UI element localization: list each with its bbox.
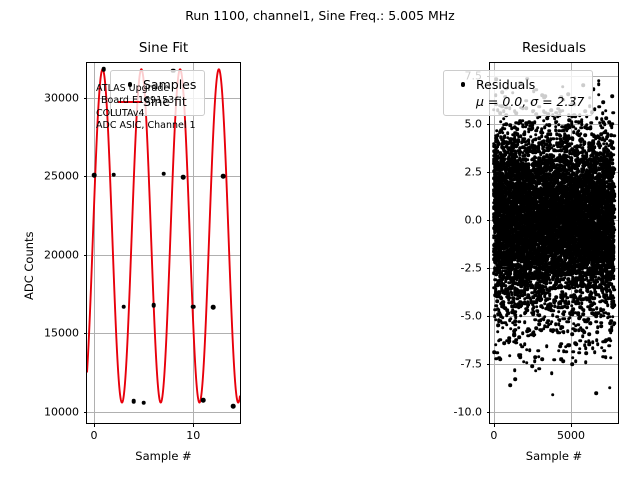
residual-point [548, 124, 552, 128]
residual-point [525, 361, 529, 365]
residual-point [523, 321, 527, 325]
residual-point [562, 313, 566, 317]
residual-point [501, 326, 505, 330]
residual-point [513, 378, 517, 382]
residual-point [509, 317, 513, 321]
sample-point [211, 305, 216, 310]
sample-point [92, 173, 97, 178]
residual-point [512, 334, 516, 338]
residuals-plot-area [490, 63, 618, 423]
sample-point [221, 174, 226, 179]
residual-point [559, 342, 563, 346]
residual-point [501, 316, 505, 320]
residual-point [525, 308, 529, 312]
sample-point [161, 172, 166, 177]
y-tick [84, 412, 88, 413]
residual-point [548, 292, 552, 296]
residual-point [541, 131, 545, 135]
atlas-line-3: COLUTAv4 [96, 108, 196, 120]
residual-point [564, 350, 568, 354]
y-tick-label: 15000 [44, 327, 79, 340]
sample-point [231, 404, 236, 409]
y-tick-label: 30000 [44, 91, 79, 104]
residual-point [565, 305, 569, 309]
x-tick [94, 423, 95, 427]
sine-fit-xlabel: Sample # [87, 449, 240, 463]
y-tick-label: 10000 [44, 405, 79, 418]
sample-point [201, 398, 206, 403]
gridline-horizontal [490, 364, 618, 365]
residual-point [547, 297, 551, 301]
sample-point [151, 303, 156, 308]
residual-point [523, 130, 527, 134]
y-tick [84, 333, 88, 334]
residual-point [506, 132, 510, 136]
residual-point [514, 341, 518, 345]
residual-point [548, 281, 552, 285]
atlas-annotation: ATLAS Upgrade Board E169153 COLUTAv4 ADC… [96, 83, 196, 133]
residual-point [517, 326, 521, 330]
residual-point [557, 349, 561, 353]
x-tick-label: 10 [186, 429, 200, 442]
residual-point [499, 338, 503, 342]
residual-point [523, 343, 527, 347]
residual-point [494, 343, 498, 347]
residuals-title: Residuals [490, 40, 618, 56]
sample-point [191, 304, 196, 309]
sample-point [141, 400, 146, 405]
residual-point [517, 320, 521, 324]
residual-point [513, 310, 517, 314]
residual-point [540, 357, 544, 361]
residual-point [555, 295, 559, 299]
residual-point [538, 313, 542, 317]
residual-point [518, 355, 522, 359]
residual-point [518, 336, 522, 340]
atlas-line-1: ATLAS Upgrade [96, 83, 196, 95]
residual-point [566, 329, 570, 333]
atlas-line-4: ADC ASIC, Channel 1 [96, 120, 196, 132]
sample-point [102, 67, 107, 72]
sample-point [181, 175, 186, 180]
residual-point [537, 349, 541, 353]
residual-point [530, 126, 534, 130]
y-tick [84, 176, 88, 177]
residual-point [552, 309, 556, 313]
x-tick [193, 423, 194, 427]
matplotlib-figure: Run 1100, channel1, Sine Freq.: 5.005 MH… [0, 0, 640, 480]
residual-point [535, 326, 539, 330]
y-tick-label: 25000 [44, 170, 79, 183]
residual-point [538, 322, 542, 326]
residual-point [497, 324, 501, 328]
residual-point [551, 313, 555, 317]
residual-point [507, 339, 511, 343]
residual-point [562, 359, 566, 363]
residual-point [540, 135, 544, 139]
residual-point [514, 315, 518, 319]
residual-point [502, 300, 506, 304]
residual-point [557, 310, 561, 314]
atlas-line-2: Board E169153 [96, 95, 196, 107]
residuals-axes: Residuals Sample # 05000-10.0-7.5-5.0-2.… [489, 62, 619, 424]
gridline-horizontal [490, 412, 618, 413]
y-tick [84, 98, 88, 99]
residual-point [502, 117, 506, 121]
sine-fit-title: Sine Fit [87, 40, 240, 56]
y-tick [84, 255, 88, 256]
residual-point [550, 372, 554, 376]
residual-point [498, 358, 502, 362]
residual-point [552, 358, 556, 362]
residual-point [504, 122, 508, 126]
residual-point [551, 393, 555, 397]
residual-point [527, 328, 531, 332]
residual-point [538, 367, 542, 371]
residual-point [515, 128, 519, 132]
residual-point [513, 369, 517, 373]
residual-point [533, 120, 537, 124]
residual-point [535, 305, 539, 309]
y-tick-label: 20000 [44, 248, 79, 261]
sample-point [112, 172, 117, 177]
residual-point [567, 320, 571, 324]
residual-point [508, 354, 512, 358]
residual-point [533, 333, 537, 337]
residual-point [496, 330, 500, 334]
residual-point [557, 331, 561, 335]
sample-point [131, 399, 136, 404]
residual-point [543, 315, 547, 319]
sine-fit-ylabel: ADC Counts [22, 231, 36, 300]
residual-point [533, 359, 537, 363]
x-tick-label: 0 [90, 429, 97, 442]
residual-point [545, 344, 549, 348]
residual-point [549, 132, 553, 136]
residual-point [528, 348, 532, 352]
residual-point [503, 127, 507, 131]
residual-point [560, 325, 564, 329]
residual-point [521, 331, 525, 335]
residual-point [527, 153, 531, 157]
residual-point [562, 310, 566, 314]
residual-point [505, 323, 509, 327]
figure-suptitle: Run 1100, channel1, Sine Freq.: 5.005 MH… [0, 8, 640, 23]
residual-point [530, 364, 534, 368]
residual-point [567, 344, 571, 348]
residual-point [495, 351, 499, 355]
residual-point [567, 300, 571, 304]
sample-point [121, 304, 126, 309]
residual-point [508, 383, 512, 387]
residual-point [506, 311, 510, 315]
